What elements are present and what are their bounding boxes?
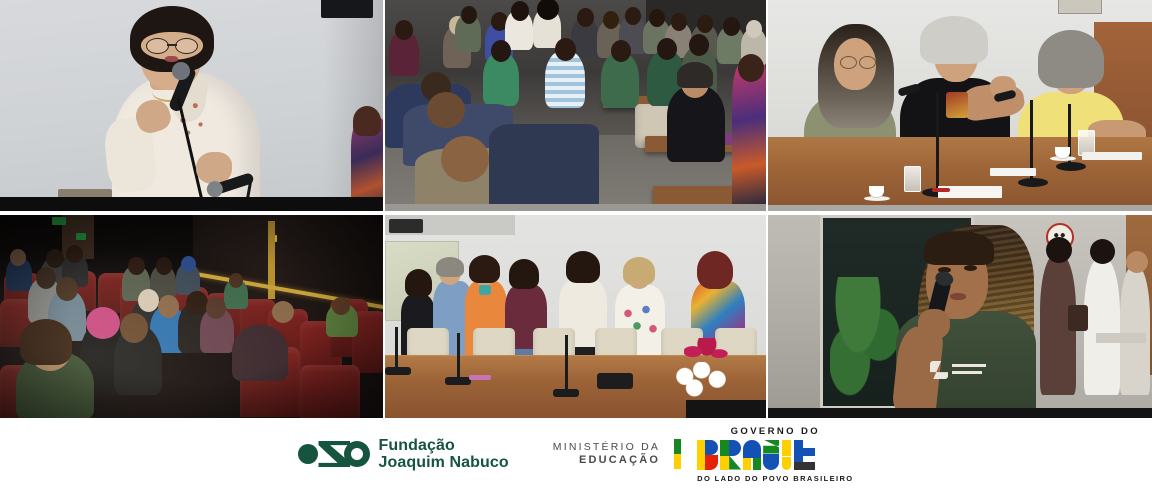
brasil-letter-b-yellow	[697, 440, 705, 470]
photo6-subject-right-eye	[964, 265, 977, 271]
photo2-right-edge-head	[738, 54, 764, 82]
ministerio-educacao-logo[interactable]: MINISTÉRIO DA EDUCAÇÃO	[553, 441, 660, 468]
photo4-vignette	[0, 215, 383, 418]
photo-panel-discussion	[768, 0, 1152, 211]
photo5-microphone-base	[445, 377, 471, 385]
photo5-person-4-hair	[509, 259, 539, 289]
photo5-flower-arrangement	[674, 338, 738, 400]
photo3-panelist-3-hair	[1038, 30, 1104, 88]
brasil-letter-r-green	[720, 440, 729, 456]
photo2-audience-head	[577, 8, 594, 27]
photo-opening-ceremony	[385, 215, 766, 418]
photo5-person-6-hair	[623, 257, 655, 285]
logo-row: Fundação Joaquim Nabuco MINISTÉRIO DA ED…	[298, 426, 853, 483]
photo3-document	[990, 168, 1036, 176]
photo5-microphone-stand	[457, 333, 460, 381]
photo2-audience-head	[611, 40, 631, 62]
photo2-audience-head	[625, 7, 641, 25]
photo1-mouth	[165, 56, 178, 62]
brasil-letter-l-dark	[794, 462, 803, 470]
photo2-audience-head	[603, 11, 619, 29]
photo6-visitor	[1084, 259, 1120, 395]
photo3-panelist-1-glasses	[840, 56, 876, 67]
photo1-glasses	[146, 38, 198, 52]
photo2-foreground-head	[427, 92, 465, 128]
photo2-audience-head	[461, 6, 477, 24]
photo2-audience-head	[491, 40, 511, 62]
governo-tagline: DO LADO DO POVO BRASILEIRO	[697, 474, 853, 483]
photo6-visitor-head	[1090, 239, 1115, 264]
photo6-bottom-edge	[768, 408, 1152, 418]
photo6-visitor	[1120, 267, 1150, 395]
photo2-front-row-hair	[677, 62, 713, 88]
photo5-person-5-hair	[566, 251, 600, 283]
mec-line-2: EDUCAÇÃO	[553, 454, 660, 468]
photo5-microphone-base	[553, 389, 579, 397]
event-photo-collage	[0, 0, 1152, 418]
photo2-audience-head	[555, 38, 576, 61]
fjn-wordmark-line-2: Joaquim Nabuco	[378, 454, 508, 471]
photo2-foreground-person	[489, 124, 599, 204]
photo3-bottom-edge	[768, 205, 1152, 211]
photo5-projector	[389, 219, 423, 233]
brasil-letter-b-blue-top	[705, 440, 718, 455]
brasil-wordmark-icon	[697, 440, 815, 470]
fjn-wordmark: Fundação Joaquim Nabuco	[378, 437, 508, 472]
photo2-audience-head	[395, 20, 413, 40]
governo-do-brasil-logo[interactable]: GOVERNO DO	[697, 426, 853, 483]
institutional-logo-bar: Fundação Joaquim Nabuco MINISTÉRIO DA ED…	[0, 418, 1152, 490]
photo2-audience-head	[689, 34, 709, 56]
photo5-white-flowers	[674, 362, 734, 398]
photo-cinema-screening	[0, 215, 383, 418]
brasil-letter-r-green-leg	[729, 456, 741, 470]
photo3-microphone-base	[1056, 162, 1086, 171]
photo2-right-edge-person	[732, 64, 766, 204]
photo3-panelist-2-hair	[920, 16, 988, 64]
photo-participant-question	[768, 215, 1152, 418]
brasil-letter-s-blue	[763, 454, 779, 470]
photo5-person-2-hair	[436, 257, 464, 277]
photo6-visitor-head	[1126, 251, 1148, 273]
photo1-microphone-head	[172, 62, 190, 80]
photo5-pen-on-table	[469, 375, 491, 380]
brasil-letter-r-yellow-leg	[720, 456, 729, 470]
mec-color-bar-icon	[674, 439, 681, 469]
photo2-audience-head	[671, 13, 687, 31]
photo1-ceiling-speaker	[321, 0, 373, 18]
photo2-audience-head	[723, 17, 740, 36]
photo5-microphone-stand	[565, 335, 568, 393]
brasil-letter-a-yellow	[743, 458, 751, 470]
brasil-letter-i-yellow-bottom	[782, 457, 791, 470]
brasil-letter-l-dark-foot	[803, 462, 815, 470]
brasil-letter-r-blue	[729, 440, 741, 456]
photo2-audience-head	[657, 38, 677, 60]
brasil-letter-i-yellow	[782, 440, 791, 456]
photo3-document	[1082, 152, 1142, 160]
brasil-letter-a-green	[753, 458, 761, 470]
fjn-wordmark-line-1: Fundação	[378, 437, 508, 454]
photo6-visitor-head	[1046, 237, 1072, 263]
photo6-tshirt-logo-text	[952, 362, 988, 378]
photo6-hand-holding-mic	[918, 309, 950, 339]
photo5-person-3-hair	[469, 255, 500, 283]
photo6-table-far	[1096, 333, 1146, 343]
photo3-red-pen	[932, 188, 950, 192]
photo1-bottom-edge	[0, 197, 383, 211]
brasil-letter-l-blue	[794, 440, 803, 462]
brasil-letter-a-blue	[743, 440, 761, 458]
photo3-microphone-stand	[936, 92, 939, 192]
photo5-person-1-hair	[405, 269, 432, 297]
photo-collage-page: Fundação Joaquim Nabuco MINISTÉRIO DA ED…	[0, 0, 1152, 490]
fjn-circle-icon	[298, 444, 318, 464]
photo3-water-glass	[904, 166, 921, 192]
fjn-ring-icon	[344, 441, 370, 467]
photo2-bottom-edge	[385, 204, 766, 211]
photo-speaker-at-podium	[0, 0, 383, 211]
photo6-subject-lips	[950, 293, 966, 300]
photo3-wall-plaque	[1058, 0, 1102, 14]
photo5-microphone-stand	[395, 327, 398, 371]
brasil-letter-l-blue-arm	[803, 448, 815, 456]
brasil-letter-s-green	[763, 440, 779, 454]
photo2-audience-head	[649, 9, 665, 27]
photo5-microphone-base	[385, 367, 411, 375]
photo6-subject-hairline	[924, 231, 994, 265]
photo6-plant	[830, 277, 900, 397]
photo6-tshirt-logo-mark	[930, 361, 948, 379]
photo6-tshirt-fjn-logo	[930, 359, 988, 383]
fundacao-joaquim-nabuco-logo[interactable]: Fundação Joaquim Nabuco	[298, 437, 508, 472]
photo5-person-7-hair	[697, 251, 733, 289]
governo-top-text: GOVERNO DO	[697, 426, 853, 437]
photo2-audience-head	[697, 15, 713, 33]
photo3-panelist-2-scarf	[946, 92, 968, 118]
photo2-foreground-head	[441, 136, 489, 182]
photo2-audience-head	[511, 1, 529, 21]
photo2-audience-head	[746, 20, 762, 38]
photo3-microphone-base	[1018, 178, 1048, 187]
fjn-logo-mark-icon	[298, 439, 370, 469]
mec-line-1: MINISTÉRIO DA	[553, 441, 660, 454]
photo6-bag	[1068, 305, 1088, 331]
photo5-dark-cloth	[686, 400, 766, 418]
brasil-letter-b-red-bottom	[705, 455, 718, 470]
photo-auditorium-audience	[385, 0, 766, 211]
photo5-bag-on-chair	[597, 373, 633, 389]
photo1-background-person-hair	[353, 106, 381, 136]
photo5-person-3-necklace	[479, 285, 491, 295]
